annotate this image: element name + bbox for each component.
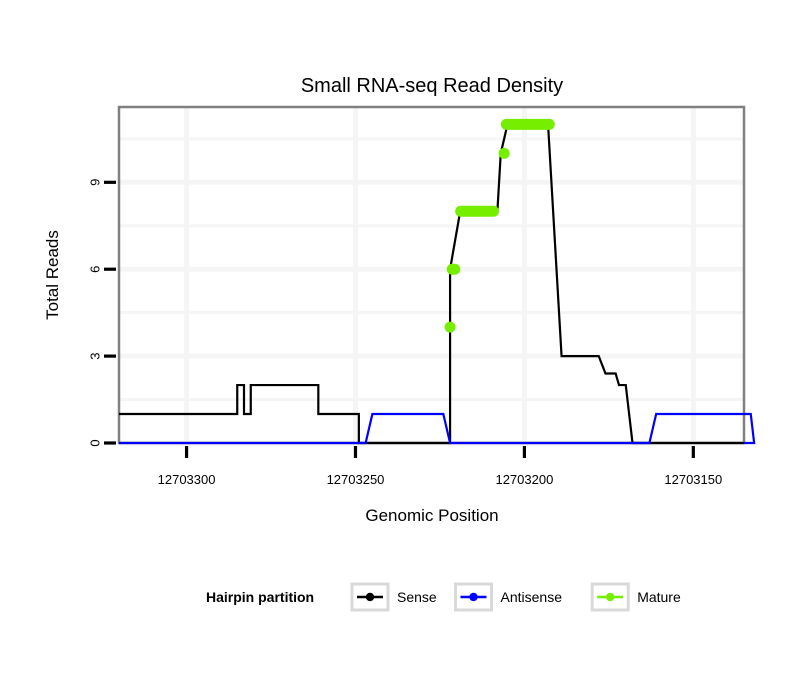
legend-item-label: Sense (397, 589, 437, 605)
legend-item-label: Antisense (501, 589, 563, 605)
mature-marker-bar (501, 119, 555, 130)
legend-title: Hairpin partition (206, 589, 314, 605)
x-tick-label: 12703150 (664, 472, 722, 487)
x-axis-title: Genomic Position (365, 506, 498, 525)
y-tick-label: 0 (88, 439, 103, 446)
y-tick-label: 9 (88, 179, 103, 186)
legend-key-point (366, 593, 374, 601)
mature-marker-dot (499, 148, 510, 159)
x-tick-label: 12703250 (327, 472, 385, 487)
y-axis-title: Total Reads (43, 230, 62, 320)
x-tick-label: 12703300 (158, 472, 216, 487)
chart-container: Small RNA-seq Read Density 1270330012703… (0, 0, 810, 690)
chart-background (0, 0, 810, 690)
rna-read-density-chart: Small RNA-seq Read Density 1270330012703… (0, 0, 810, 690)
mature-marker-bar (455, 206, 499, 217)
y-tick-label: 6 (88, 266, 103, 273)
mature-marker-bar (447, 264, 461, 275)
x-tick-label: 12703200 (495, 472, 553, 487)
chart-title: Small RNA-seq Read Density (301, 75, 563, 97)
y-tick-label: 3 (88, 352, 103, 359)
legend-key-point (606, 593, 614, 601)
legend-item-label: Mature (637, 589, 681, 605)
mature-marker-dot (445, 322, 456, 333)
legend-key-point (469, 593, 477, 601)
